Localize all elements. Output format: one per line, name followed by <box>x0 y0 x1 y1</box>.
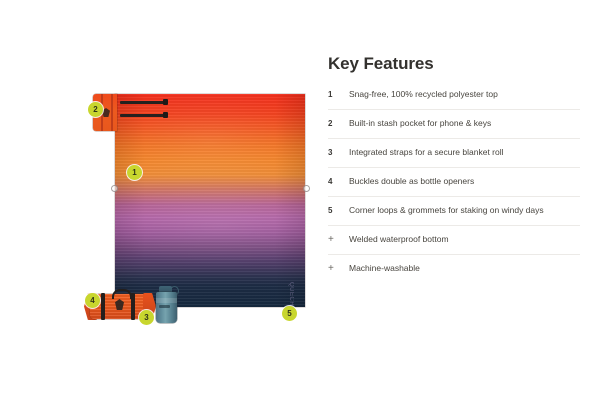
list-item: 3 Integrated straps for a secure blanket… <box>328 138 580 167</box>
feature-marker: + <box>328 233 339 246</box>
list-item: 5 Corner loops & grommets for staking on… <box>328 196 580 225</box>
list-item: 4 Buckles double as bottle openers <box>328 167 580 196</box>
roll-strap <box>120 114 165 117</box>
feature-marker: + <box>328 262 339 275</box>
callout-badge-5[interactable]: 5 <box>282 306 297 321</box>
blanket-sheen <box>115 94 305 307</box>
corner-loop-icon <box>111 185 118 192</box>
brand-logo-icon <box>102 108 110 117</box>
roll-strap <box>101 293 105 320</box>
product-feature-page: QUECHUA <box>0 0 600 400</box>
brand-mark: QUECHUA <box>280 282 294 302</box>
callout-badge-4[interactable]: 4 <box>85 293 100 308</box>
bottle-label <box>159 305 170 308</box>
key-features-panel: Key Features 1 Snag-free, 100% recycled … <box>322 0 600 400</box>
list-item: + Machine-washable <box>328 254 580 283</box>
callout-badge-3[interactable]: 3 <box>139 310 154 325</box>
feature-text: Integrated straps for a secure blanket r… <box>349 146 504 159</box>
buckle-icon <box>163 112 168 118</box>
feature-list: 1 Snag-free, 100% recycled polyester top… <box>328 88 580 283</box>
blanket-spread <box>115 94 305 307</box>
roll-strap <box>131 293 135 320</box>
feature-marker: 4 <box>328 175 339 188</box>
corner-loop-icon <box>303 185 310 192</box>
feature-text: Snag-free, 100% recycled polyester top <box>349 88 498 101</box>
list-item: 2 Built-in stash pocket for phone & keys <box>328 109 580 138</box>
feature-text: Machine-washable <box>349 262 420 275</box>
buckle-icon <box>163 99 168 105</box>
feature-text: Welded waterproof bottom <box>349 233 449 246</box>
pocket-seam <box>111 94 113 131</box>
list-item: + Welded waterproof bottom <box>328 225 580 254</box>
roll-handle <box>112 289 132 299</box>
feature-marker: 2 <box>328 117 339 130</box>
callout-badge-1[interactable]: 1 <box>127 165 142 180</box>
feature-marker: 5 <box>328 204 339 217</box>
bottle-body <box>156 292 177 323</box>
page-title: Key Features <box>328 54 580 74</box>
product-image: QUECHUA <box>0 0 322 400</box>
feature-text: Buckles double as bottle openers <box>349 175 474 188</box>
callout-badge-2[interactable]: 2 <box>88 102 103 117</box>
water-bottle <box>156 285 177 323</box>
list-item: 1 Snag-free, 100% recycled polyester top <box>328 88 580 109</box>
blanket-edge-shading <box>115 94 305 307</box>
feature-marker: 1 <box>328 88 339 101</box>
feature-text: Built-in stash pocket for phone & keys <box>349 117 491 130</box>
roll-strap <box>120 101 165 104</box>
feature-marker: 3 <box>328 146 339 159</box>
feature-text: Corner loops & grommets for staking on w… <box>349 204 544 217</box>
